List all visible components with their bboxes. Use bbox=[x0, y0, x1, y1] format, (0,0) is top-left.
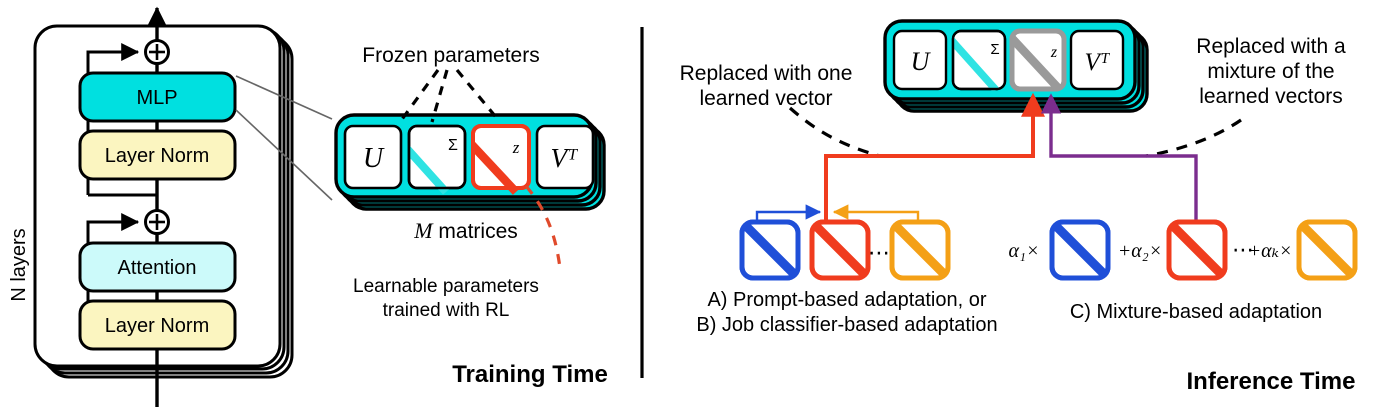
cell-sigma-matrix-inference bbox=[953, 31, 1005, 89]
annotation-frozen-parameters: Frozen parameters bbox=[362, 44, 539, 67]
label-u-matrix-training: U bbox=[363, 143, 385, 174]
vector-blue-prompt bbox=[742, 222, 798, 278]
vector-blue-mixture bbox=[1052, 222, 1108, 278]
label-sigma-matrix-training: Σ bbox=[448, 137, 458, 154]
vector-red-prompt bbox=[812, 222, 868, 278]
arrow-purple-to-z bbox=[1051, 96, 1196, 240]
mixture-term-alpha1-coef: α₁× bbox=[1009, 240, 1040, 262]
annotation-replaced-one-line1: Replaced with one bbox=[680, 62, 853, 85]
footer-inference-time: Inference Time bbox=[1187, 368, 1356, 395]
svd-caption-m-matrices: M matrices bbox=[413, 218, 518, 243]
mixture-term-alpha2-prefix: + bbox=[1118, 240, 1132, 262]
stack-label-n-layers: N layers bbox=[8, 228, 30, 301]
annotation-replaced-one-line2: learned vector bbox=[699, 87, 832, 110]
vector-red-mixture bbox=[1169, 222, 1225, 278]
figure-root: N layers MLP Layer Norm Attention Layer … bbox=[0, 0, 1373, 407]
mixture-term-alpha2-coef: +α₂× bbox=[1118, 240, 1162, 262]
vector-orange-mixture bbox=[1299, 222, 1355, 278]
mixture-term-alphak-prefix: + bbox=[1248, 240, 1262, 262]
block-label-layer-norm-bottom: Layer Norm bbox=[105, 315, 209, 337]
footer-training-time: Training Time bbox=[452, 361, 608, 388]
diagram-canvas: N layers MLP Layer Norm Attention Layer … bbox=[0, 0, 1373, 407]
residual-add-attention bbox=[146, 211, 169, 234]
label-u-matrix-inference: U bbox=[911, 47, 932, 76]
block-label-mlp: MLP bbox=[136, 87, 177, 109]
annotation-learnable-line2: trained with RL bbox=[383, 300, 510, 321]
annotation-replaced-mixture-line1: Replaced with a bbox=[1196, 35, 1346, 58]
dashed-pointer-right bbox=[1146, 120, 1241, 156]
mixture-term-alphak-value: αₖ× bbox=[1261, 240, 1292, 262]
annotation-replaced-mixture-line3: learned vectors bbox=[1199, 85, 1343, 108]
annotation-replaced-mixture-line2: mixture of the bbox=[1207, 60, 1334, 83]
prompt-group-ellipsis: ⋯ bbox=[868, 240, 890, 265]
dashed-pointer-left bbox=[790, 108, 880, 156]
label-vt-matrix-inference: Vᵀ bbox=[1085, 49, 1111, 76]
prompt-group-caption-line1: A) Prompt-based adaptation, or bbox=[707, 289, 986, 311]
label-sigma-matrix-inference: Σ bbox=[990, 41, 999, 58]
block-label-attention: Attention bbox=[118, 257, 197, 279]
label-vt-matrix-training: Vᵀ bbox=[551, 143, 579, 173]
mixture-group-caption: C) Mixture-based adaptation bbox=[1070, 301, 1322, 323]
label-z-matrix-inference: z bbox=[1050, 44, 1058, 61]
label-z-matrix-training: z bbox=[512, 138, 520, 157]
mixture-term-alphak-coef: +αₖ× bbox=[1248, 240, 1293, 262]
residual-add-mlp bbox=[146, 41, 169, 64]
mixture-term-alpha2-value: α₂× bbox=[1131, 240, 1162, 262]
block-label-layer-norm-top: Layer Norm bbox=[105, 145, 209, 167]
annotation-learnable-line1: Learnable parameters bbox=[353, 276, 539, 297]
vector-orange-prompt bbox=[892, 222, 948, 278]
prompt-group-caption-line2: B) Job classifier-based adaptation bbox=[696, 314, 997, 336]
